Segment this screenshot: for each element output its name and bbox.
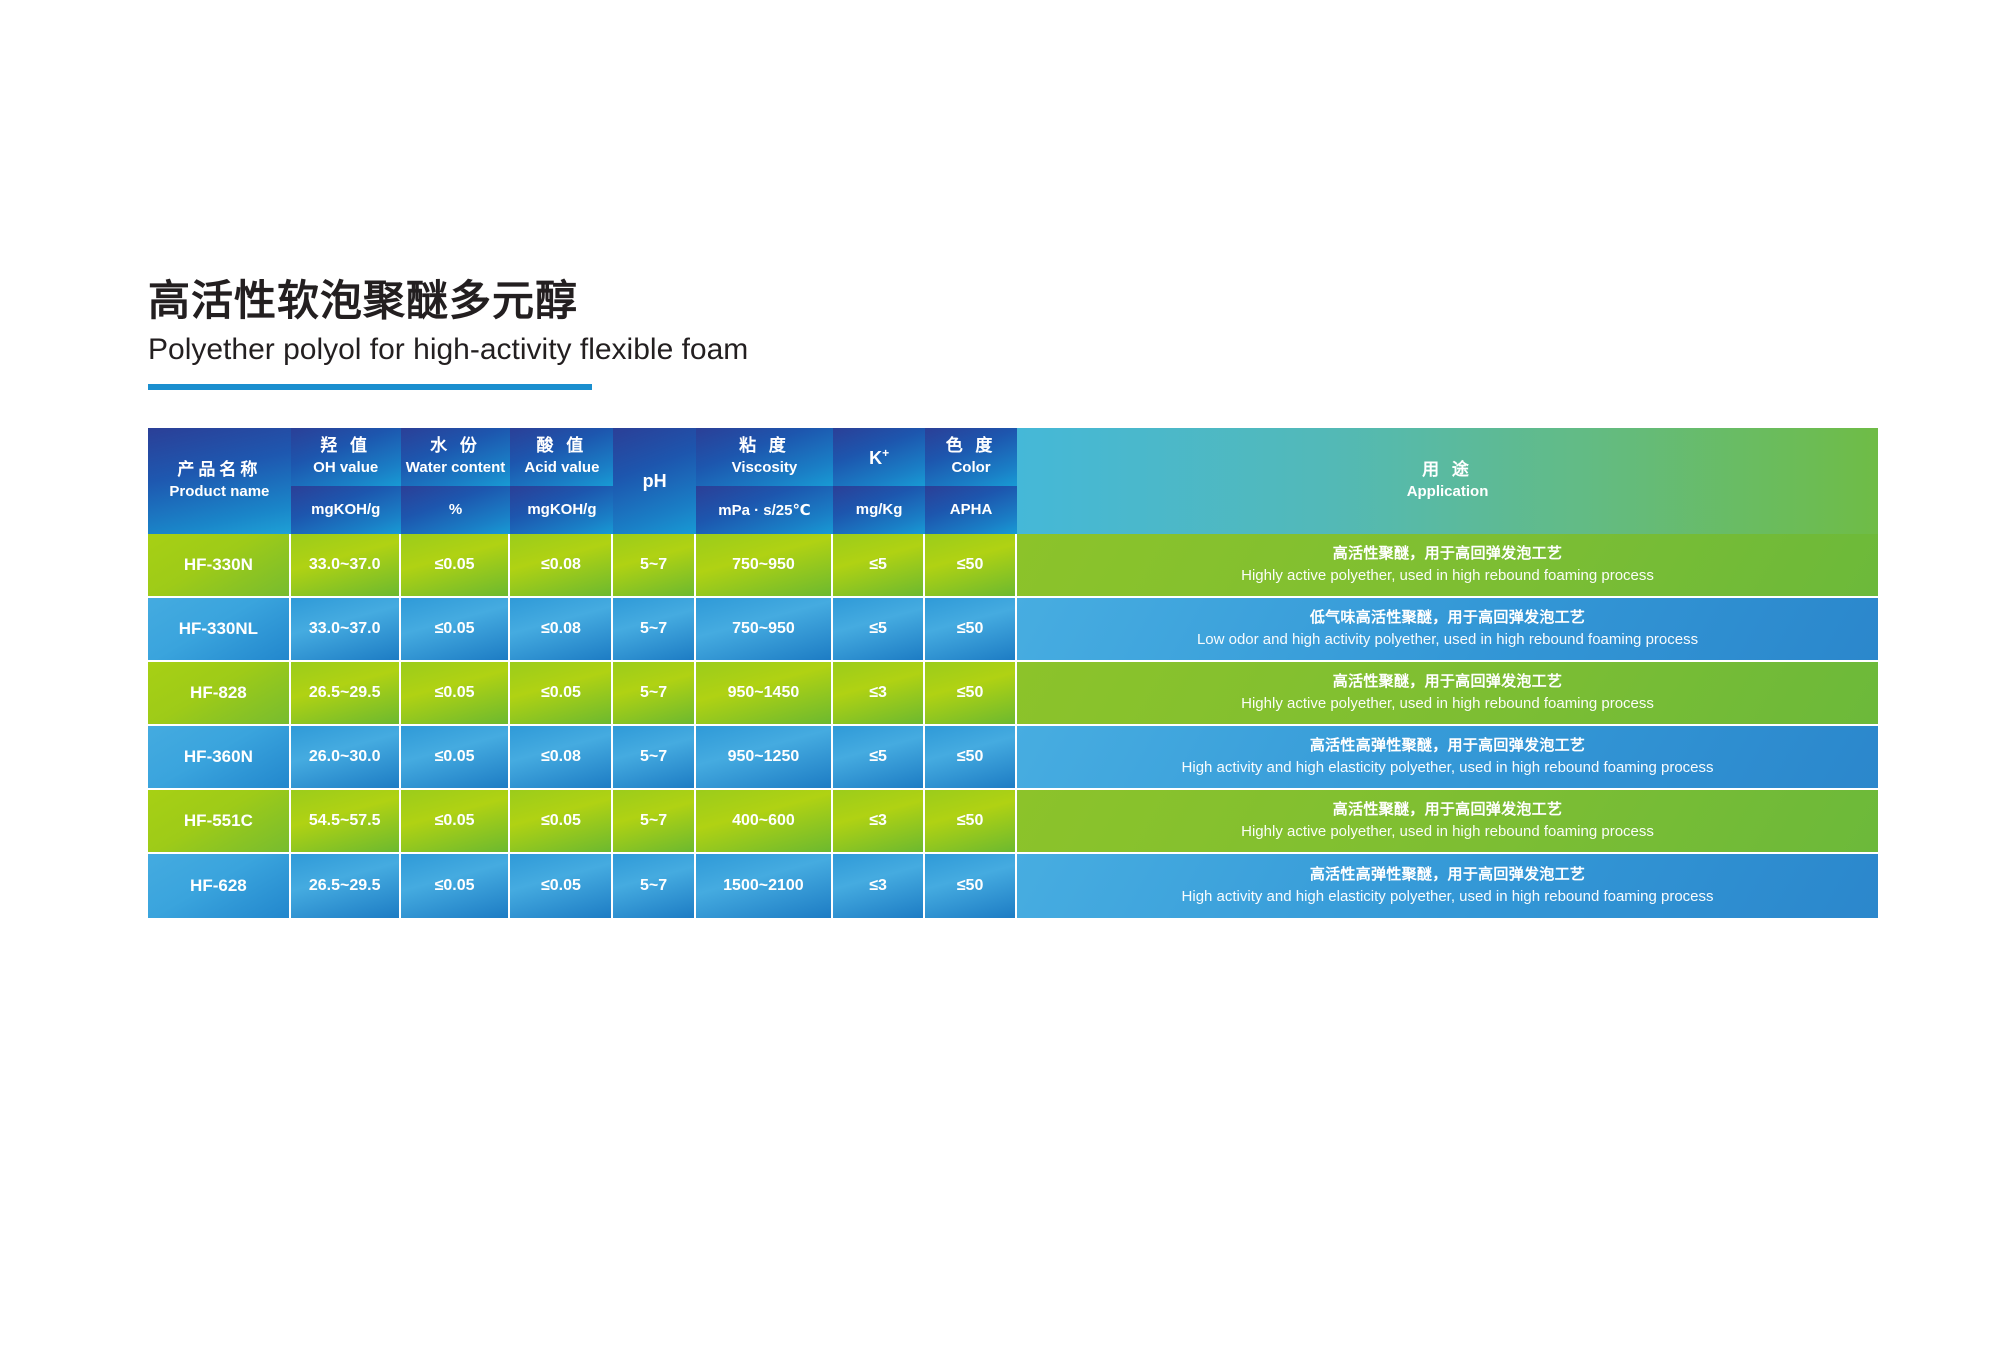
cell-product-name: HF-828 bbox=[148, 662, 291, 726]
table-row: HF-330N33.0~37.0≤0.05≤0.085~7750~950≤5≤5… bbox=[148, 534, 1878, 598]
col-header-product-name-cn: 产品名称 bbox=[148, 459, 291, 482]
title-underline-rule bbox=[148, 384, 592, 390]
cell-color: ≤50 bbox=[925, 534, 1017, 598]
col-header-application: 用 途 Application bbox=[1017, 428, 1878, 534]
cell-color: ≤50 bbox=[925, 790, 1017, 854]
application-text-en: Highly active polyether, used in high re… bbox=[1017, 565, 1878, 587]
cell-color: ≤50 bbox=[925, 854, 1017, 918]
unit-header-oh-value: mgKOH/g bbox=[291, 486, 401, 534]
application-text-cn: 高活性高弹性聚醚，用于高回弹发泡工艺 bbox=[1017, 864, 1878, 886]
page-title-block: 高活性软泡聚醚多元醇 Polyether polyol for high-act… bbox=[148, 276, 848, 390]
application-text-cn: 低气味高活性聚醚，用于高回弹发泡工艺 bbox=[1017, 607, 1878, 629]
col-header-color-cn: 色 度 bbox=[925, 435, 1017, 458]
table-header: 产品名称 Product name 羟 值 OH value 水 份 Water… bbox=[148, 428, 1878, 534]
cell-water-content: ≤0.05 bbox=[401, 726, 511, 790]
cell-ph: 5~7 bbox=[613, 598, 695, 662]
col-header-oh-value-cn: 羟 值 bbox=[291, 435, 401, 458]
col-header-acid-value-cn: 酸 值 bbox=[510, 435, 613, 458]
table-row: HF-551C54.5~57.5≤0.05≤0.055~7400~600≤3≤5… bbox=[148, 790, 1878, 854]
cell-oh-value: 26.0~30.0 bbox=[291, 726, 401, 790]
unit-acid-value: mgKOH/g bbox=[527, 501, 596, 518]
cell-viscosity: 750~950 bbox=[696, 598, 833, 662]
application-text-en: High activity and high elasticity polyet… bbox=[1017, 886, 1878, 908]
cell-product-name: HF-330N bbox=[148, 534, 291, 598]
cell-viscosity: 950~1250 bbox=[696, 726, 833, 790]
cell-ph: 5~7 bbox=[613, 534, 695, 598]
cell-k-plus: ≤3 bbox=[833, 662, 925, 726]
cell-viscosity: 400~600 bbox=[696, 790, 833, 854]
cell-k-plus: ≤5 bbox=[833, 726, 925, 790]
cell-acid-value: ≤0.05 bbox=[510, 854, 613, 918]
cell-oh-value: 26.5~29.5 bbox=[291, 662, 401, 726]
cell-acid-value: ≤0.08 bbox=[510, 726, 613, 790]
table-row: HF-82826.5~29.5≤0.05≤0.055~7950~1450≤3≤5… bbox=[148, 662, 1878, 726]
page-title-en: Polyether polyol for high-activity flexi… bbox=[148, 332, 848, 368]
cell-acid-value: ≤0.08 bbox=[510, 534, 613, 598]
col-header-viscosity: 粘 度 Viscosity bbox=[696, 428, 833, 486]
col-header-viscosity-en: Viscosity bbox=[696, 458, 833, 478]
cell-oh-value: 33.0~37.0 bbox=[291, 598, 401, 662]
col-header-water-content: 水 份 Water content bbox=[401, 428, 511, 486]
cell-color: ≤50 bbox=[925, 662, 1017, 726]
cell-color: ≤50 bbox=[925, 598, 1017, 662]
col-header-product-name: 产品名称 Product name bbox=[148, 428, 291, 534]
application-text-cn: 高活性高弹性聚醚，用于高回弹发泡工艺 bbox=[1017, 735, 1878, 757]
cell-viscosity: 1500~2100 bbox=[696, 854, 833, 918]
cell-oh-value: 54.5~57.5 bbox=[291, 790, 401, 854]
col-header-application-cn: 用 途 bbox=[1017, 459, 1878, 482]
col-header-application-en: Application bbox=[1017, 482, 1878, 502]
cell-acid-value: ≤0.05 bbox=[510, 662, 613, 726]
cell-color: ≤50 bbox=[925, 726, 1017, 790]
unit-oh-value: mgKOH/g bbox=[311, 501, 380, 518]
cell-application: 高活性聚醚，用于高回弹发泡工艺Highly active polyether, … bbox=[1017, 534, 1878, 598]
cell-water-content: ≤0.05 bbox=[401, 534, 511, 598]
table-body: HF-330N33.0~37.0≤0.05≤0.085~7750~950≤5≤5… bbox=[148, 534, 1878, 918]
application-text-en: High activity and high elasticity polyet… bbox=[1017, 757, 1878, 779]
col-header-ph: pH bbox=[613, 428, 695, 534]
cell-water-content: ≤0.05 bbox=[401, 854, 511, 918]
unit-header-k-plus: mg/Kg bbox=[833, 486, 925, 534]
cell-ph: 5~7 bbox=[613, 790, 695, 854]
cell-application: 低气味高活性聚醚，用于高回弹发泡工艺Low odor and high acti… bbox=[1017, 598, 1878, 662]
unit-header-acid-value: mgKOH/g bbox=[510, 486, 613, 534]
cell-viscosity: 950~1450 bbox=[696, 662, 833, 726]
cell-k-plus: ≤5 bbox=[833, 598, 925, 662]
application-text-en: Highly active polyether, used in high re… bbox=[1017, 821, 1878, 843]
cell-water-content: ≤0.05 bbox=[401, 790, 511, 854]
cell-acid-value: ≤0.08 bbox=[510, 598, 613, 662]
cell-product-name: HF-551C bbox=[148, 790, 291, 854]
col-header-k-plus-label: K+ bbox=[869, 448, 889, 468]
table-row: HF-62826.5~29.5≤0.05≤0.055~71500~2100≤3≤… bbox=[148, 854, 1878, 918]
col-header-oh-value: 羟 值 OH value bbox=[291, 428, 401, 486]
col-header-color: 色 度 Color bbox=[925, 428, 1017, 486]
cell-water-content: ≤0.05 bbox=[401, 598, 511, 662]
cell-ph: 5~7 bbox=[613, 726, 695, 790]
unit-header-color: APHA bbox=[925, 486, 1017, 534]
cell-application: 高活性高弹性聚醚，用于高回弹发泡工艺High activity and high… bbox=[1017, 726, 1878, 790]
unit-k-plus: mg/Kg bbox=[856, 501, 903, 518]
cell-product-name: HF-360N bbox=[148, 726, 291, 790]
cell-water-content: ≤0.05 bbox=[401, 662, 511, 726]
cell-oh-value: 33.0~37.0 bbox=[291, 534, 401, 598]
cell-oh-value: 26.5~29.5 bbox=[291, 854, 401, 918]
product-spec-table: 产品名称 Product name 羟 值 OH value 水 份 Water… bbox=[148, 428, 1878, 918]
unit-color: APHA bbox=[950, 501, 993, 518]
col-header-viscosity-cn: 粘 度 bbox=[696, 435, 833, 458]
col-header-acid-value-en: Acid value bbox=[510, 458, 613, 478]
cell-k-plus: ≤5 bbox=[833, 534, 925, 598]
cell-k-plus: ≤3 bbox=[833, 854, 925, 918]
application-text-cn: 高活性聚醚，用于高回弹发泡工艺 bbox=[1017, 671, 1878, 693]
application-text-en: Highly active polyether, used in high re… bbox=[1017, 693, 1878, 715]
cell-application: 高活性高弹性聚醚，用于高回弹发泡工艺High activity and high… bbox=[1017, 854, 1878, 918]
unit-water-content: % bbox=[449, 501, 462, 518]
col-header-k-plus: K+ bbox=[833, 428, 925, 486]
cell-product-name: HF-330NL bbox=[148, 598, 291, 662]
cell-product-name: HF-628 bbox=[148, 854, 291, 918]
table-row: HF-360N26.0~30.0≤0.05≤0.085~7950~1250≤5≤… bbox=[148, 726, 1878, 790]
col-header-color-en: Color bbox=[925, 458, 1017, 478]
col-header-ph-label: pH bbox=[643, 471, 667, 491]
col-header-oh-value-en: OH value bbox=[291, 458, 401, 478]
page-root: 高活性软泡聚醚多元醇 Polyether polyol for high-act… bbox=[0, 0, 2000, 1357]
table-row: HF-330NL33.0~37.0≤0.05≤0.085~7750~950≤5≤… bbox=[148, 598, 1878, 662]
cell-ph: 5~7 bbox=[613, 662, 695, 726]
cell-k-plus: ≤3 bbox=[833, 790, 925, 854]
unit-viscosity: mPa · s/25℃ bbox=[718, 502, 810, 519]
cell-acid-value: ≤0.05 bbox=[510, 790, 613, 854]
application-text-cn: 高活性聚醚，用于高回弹发泡工艺 bbox=[1017, 799, 1878, 821]
col-header-product-name-en: Product name bbox=[148, 482, 291, 502]
application-text-en: Low odor and high activity polyether, us… bbox=[1017, 629, 1878, 651]
cell-viscosity: 750~950 bbox=[696, 534, 833, 598]
page-title-cn: 高活性软泡聚醚多元醇 bbox=[148, 276, 848, 326]
col-header-acid-value: 酸 值 Acid value bbox=[510, 428, 613, 486]
header-row-primary: 产品名称 Product name 羟 值 OH value 水 份 Water… bbox=[148, 428, 1878, 486]
unit-header-water-content: % bbox=[401, 486, 511, 534]
cell-application: 高活性聚醚，用于高回弹发泡工艺Highly active polyether, … bbox=[1017, 790, 1878, 854]
col-header-water-content-en: Water content bbox=[401, 458, 511, 478]
unit-header-viscosity: mPa · s/25℃ bbox=[696, 486, 833, 534]
cell-ph: 5~7 bbox=[613, 854, 695, 918]
application-text-cn: 高活性聚醚，用于高回弹发泡工艺 bbox=[1017, 543, 1878, 565]
col-header-water-content-cn: 水 份 bbox=[401, 435, 511, 458]
cell-application: 高活性聚醚，用于高回弹发泡工艺Highly active polyether, … bbox=[1017, 662, 1878, 726]
